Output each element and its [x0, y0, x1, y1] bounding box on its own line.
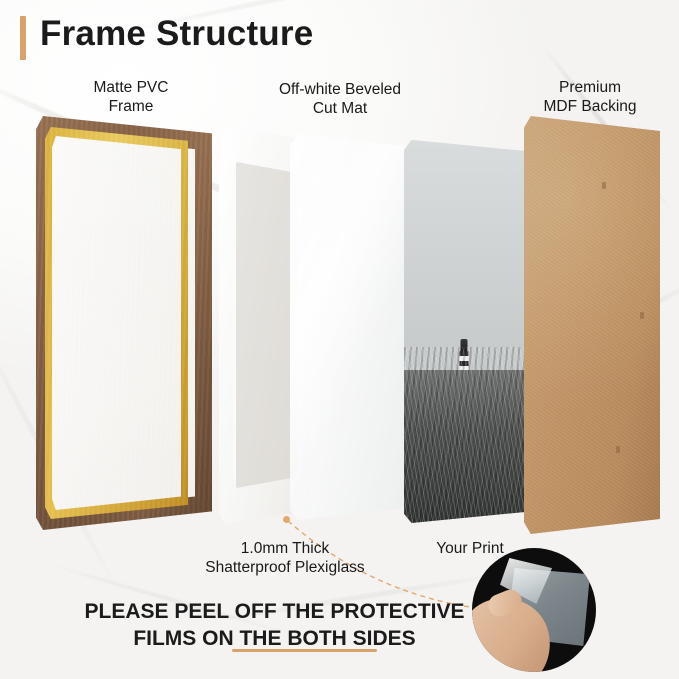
peel-notice-prefix: FILMS ON THE	[133, 627, 287, 650]
peel-notice-underline	[232, 649, 377, 652]
label-plexiglass: 1.0mm Thick Shatterproof Plexiglass	[140, 539, 430, 577]
peel-notice-line-1: PLEASE PEEL OFF THE PROTECTIVE	[30, 598, 519, 625]
peel-notice-emphasis: BOTH SIDES	[287, 627, 415, 650]
frame-structure-infographic: Frame Structure Matte PVC Frame Off-whit…	[0, 0, 679, 679]
peel-notice-line-2: FILMS ON THE BOTH SIDES	[30, 625, 519, 652]
peel-film-photo-inset	[472, 548, 596, 672]
